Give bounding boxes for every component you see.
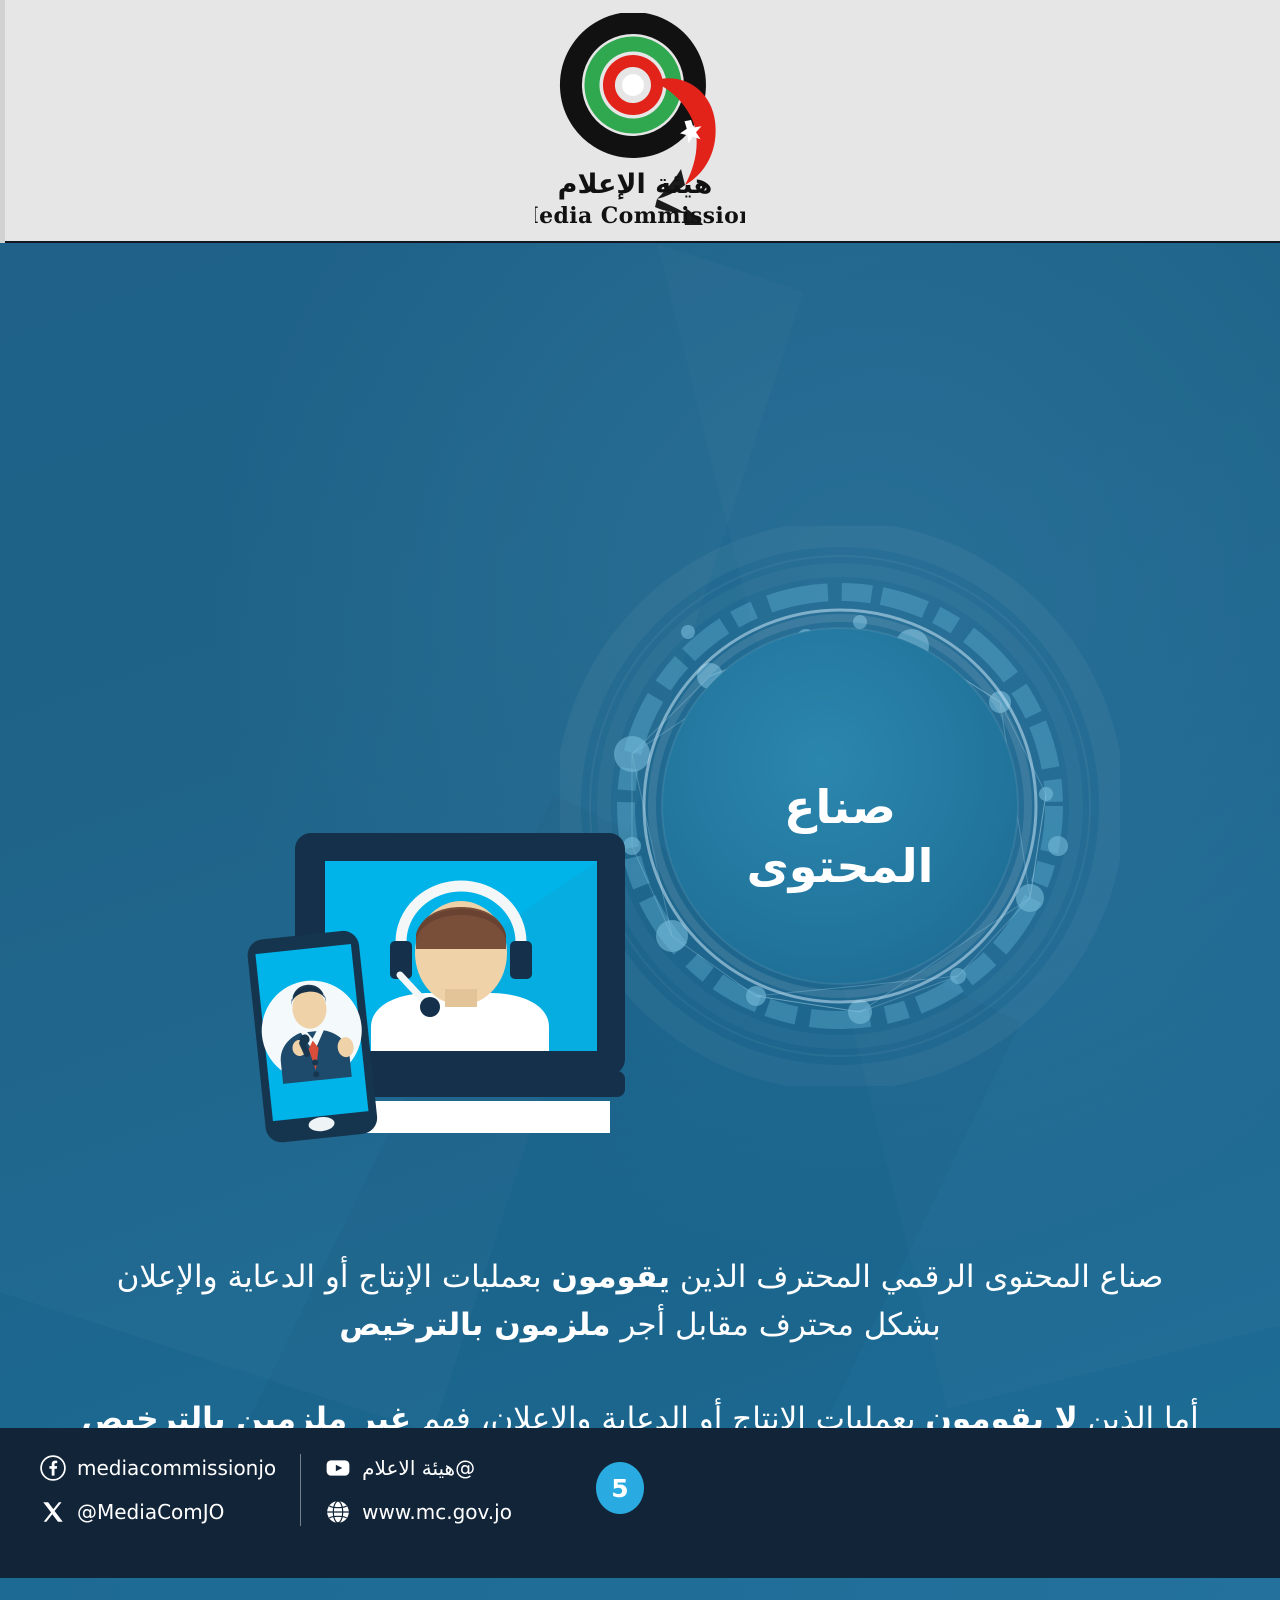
- social-link-website[interactable]: www.mc.gov.jo: [325, 1499, 512, 1525]
- footer-divider: [300, 1454, 301, 1526]
- logo-arabic-text: هيئة الإعلام: [558, 169, 713, 200]
- p1-bold-yaqumun: يقومون: [552, 1259, 670, 1295]
- social-link-facebook[interactable]: mediacommissionjo: [40, 1455, 276, 1481]
- logo-english-text: Media Commission: [535, 203, 745, 228]
- social-link-x[interactable]: @MediaComJO: [40, 1499, 276, 1525]
- p2-part-c: بعمليات الإنتاج أو الدعاية والإعلان، فهم: [411, 1401, 925, 1428]
- smartphone-graphic: [246, 929, 379, 1144]
- p2-part-a: أما الذين: [1078, 1401, 1199, 1428]
- p1-bold-license-required: ملزمون بالترخيص: [339, 1307, 610, 1343]
- paragraph-2: أما الذين لا يقومون بعمليات الإنتاج أو ا…: [80, 1395, 1200, 1428]
- p1-part-a: صناع المحتوى الرقمي المحترف الذين: [670, 1259, 1163, 1295]
- x-twitter-icon: [40, 1499, 66, 1525]
- infographic-page: هيئة الإعلام Media Commission: [0, 0, 1280, 1600]
- laptop-and-phone-illustration: [240, 823, 660, 1173]
- youtube-handle: @هيئة الاعلام: [362, 1456, 475, 1480]
- facebook-icon: [40, 1455, 66, 1481]
- social-links: mediacommissionjo @MediaComJO @هيئة ا: [40, 1454, 512, 1526]
- page-number-badge: 5: [596, 1462, 644, 1514]
- bottom-accent-strip: [0, 1578, 1280, 1600]
- hero-heading-line-2: المحتوى: [640, 837, 1040, 896]
- hero-panel: صناع المحتوى: [0, 243, 1280, 1428]
- p2-bold-not-performing: لا يقومون: [925, 1401, 1077, 1428]
- p2-bold-no-license-needed: غير ملزمين بالترخيص: [81, 1401, 411, 1428]
- social-link-youtube[interactable]: @هيئة الاعلام: [325, 1455, 512, 1481]
- globe-icon: [325, 1499, 351, 1525]
- youtube-icon: [325, 1455, 351, 1481]
- page-footer: mediacommissionjo @MediaComJO @هيئة ا: [0, 1428, 1280, 1578]
- hero-heading-line-1: صناع: [640, 778, 1040, 837]
- facebook-handle: mediacommissionjo: [77, 1456, 276, 1480]
- x-handle: @MediaComJO: [77, 1500, 224, 1524]
- website-url: www.mc.gov.jo: [362, 1500, 512, 1524]
- paragraph-1: صناع المحتوى الرقمي المحترف الذين يقومون…: [80, 1253, 1200, 1349]
- jordan-media-commission-logo: هيئة الإعلام Media Commission: [535, 13, 745, 228]
- body-copy: صناع المحتوى الرقمي المحترف الذين يقومون…: [80, 1253, 1200, 1428]
- hero-heading: صناع المحتوى: [640, 778, 1040, 896]
- page-header: هيئة الإعلام Media Commission: [0, 0, 1280, 243]
